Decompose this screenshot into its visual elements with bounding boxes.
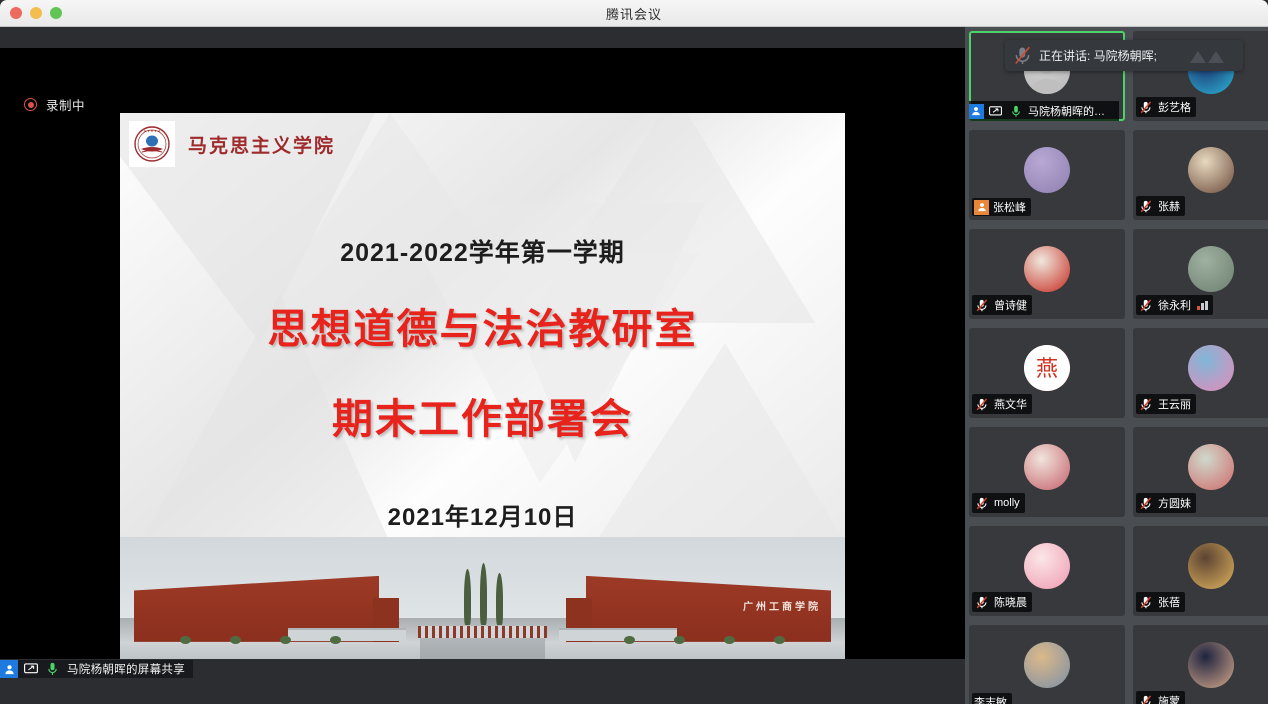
screen-share-label: 马院杨朝晖的屏幕共享: [65, 661, 185, 677]
participant-namebar: molly: [972, 493, 1025, 513]
participant-namebar: 王云丽: [1136, 394, 1196, 414]
mic-muted-icon: [974, 593, 990, 611]
participant-name: 曾诗健: [994, 297, 1027, 313]
participant-namebar: 施蒙: [1136, 691, 1185, 704]
participant-name: 彭艺格: [1158, 99, 1191, 115]
slide-date: 2021年12月10日: [120, 497, 845, 532]
share-surface: ★ ★ ★ ★ ★ 马克思主义学院 2021-2022学年第一学期 思想道德与法…: [0, 48, 965, 659]
mic-muted-icon: [974, 395, 990, 413]
participant-namebar: 李志敏: [972, 693, 1012, 704]
slide-title-line2: 期末工作部署会: [120, 385, 845, 445]
participant-name: 张松峰: [993, 199, 1026, 215]
screen-share-icon: [988, 102, 1004, 120]
window-titlebar: 腾讯会议: [0, 0, 1268, 27]
photo-canopy-left: [288, 628, 406, 641]
pig-cartoon-avatar: [1024, 543, 1070, 589]
screen-share-icon: [23, 660, 39, 678]
participant-tile[interactable]: 方圆妹: [1133, 427, 1268, 517]
mic-muted-icon: [1138, 197, 1154, 215]
participant-tile[interactable]: 张赫: [1133, 130, 1268, 220]
red-flower-avatar: [1024, 246, 1070, 292]
participant-namebar: 方圆妹: [1136, 493, 1196, 513]
purple-flower-avatar: [1024, 147, 1070, 193]
photo-canopy-right: [559, 628, 677, 641]
participant-namebar: 马院杨朝晖的屏...: [969, 101, 1119, 121]
participant-tile[interactable]: molly: [969, 427, 1125, 517]
record-dot-icon: [24, 98, 37, 111]
mic-muted-icon: [1138, 395, 1154, 413]
speaking-toast: 正在讲话: 马院杨朝晖;: [1005, 40, 1243, 71]
mic-muted-icon: [974, 296, 990, 314]
participant-tile[interactable]: 张松峰: [969, 130, 1125, 220]
participant-tile[interactable]: 陈晓晨: [969, 526, 1125, 616]
participant-namebar: 张松峰: [972, 198, 1031, 216]
participant-tile[interactable]: 燕燕文华: [969, 328, 1125, 418]
participant-name: 马院杨朝晖的屏...: [1028, 103, 1114, 119]
participant-name: 徐永利: [1158, 297, 1191, 313]
speaking-toast-text: 正在讲话: 马院杨朝晖;: [1039, 47, 1187, 64]
mic-muted-icon: [1138, 692, 1154, 704]
host-badge-icon: [974, 200, 989, 215]
floral-avatar: [1024, 444, 1070, 490]
person-icon: [0, 660, 18, 678]
participant-name: 李志敏: [974, 694, 1007, 704]
photo-campus-name: 广州工商学院: [743, 598, 821, 613]
university-seal-icon: ★ ★ ★ ★ ★: [129, 121, 175, 167]
girl-portrait-avatar: [1188, 642, 1234, 688]
person-photo-avatar: [1188, 147, 1234, 193]
slide-title-line1: 思想道德与法治教研室: [120, 295, 845, 355]
balloons-avatar: [1188, 444, 1234, 490]
participant-namebar: 徐永利: [1136, 295, 1213, 315]
microphone-icon: [1008, 102, 1024, 120]
portrait-avatar: [1188, 543, 1234, 589]
mic-muted-icon: [1005, 46, 1039, 65]
participant-sidebar[interactable]: 马院杨朝晖的屏...彭艺格张松峰张赫曾诗健徐永利燕燕文华王云丽molly方圆妹陈…: [965, 27, 1268, 704]
mic-muted-icon: [1138, 494, 1154, 512]
participant-name: 王云丽: [1158, 396, 1191, 412]
participant-tile[interactable]: 徐永利: [1133, 229, 1268, 319]
photo-tree: [480, 563, 487, 625]
recording-indicator: 录制中: [24, 95, 85, 114]
screen-share-statusbar: 马院杨朝晖的屏幕共享: [0, 660, 193, 678]
participant-name: 施蒙: [1158, 693, 1180, 704]
participant-namebar: 陈晓晨: [972, 592, 1032, 612]
svg-text:★ ★ ★ ★ ★: ★ ★ ★ ★ ★: [144, 129, 161, 133]
landscape-people-avatar: [1188, 246, 1234, 292]
photo-tree: [464, 569, 471, 625]
svg-text:燕: 燕: [1036, 356, 1058, 381]
participant-namebar: 燕文华: [972, 394, 1032, 414]
slide-header: ★ ★ ★ ★ ★ 马克思主义学院: [129, 121, 335, 167]
meeting-watermark-icon: [1187, 46, 1237, 66]
signal-strength-icon: [1197, 301, 1208, 310]
participant-tile[interactable]: 施蒙: [1133, 625, 1268, 704]
person-icon: [969, 104, 984, 119]
presentation-slide: ★ ★ ★ ★ ★ 马克思主义学院 2021-2022学年第一学期 思想道德与法…: [120, 113, 845, 659]
participant-tile[interactable]: 李志敏: [969, 625, 1125, 704]
participant-name: 燕文华: [994, 396, 1027, 412]
photo-tree: [496, 573, 503, 625]
photo-gate-barrier: [418, 626, 547, 638]
participant-namebar: 彭艺格: [1136, 97, 1196, 117]
participant-grid: 马院杨朝晖的屏...彭艺格张松峰张赫曾诗健徐永利燕燕文华王云丽molly方圆妹陈…: [969, 31, 1268, 704]
participant-namebar: 张蓓: [1136, 592, 1185, 612]
window-title: 腾讯会议: [0, 4, 1268, 23]
mic-muted-icon: [1138, 296, 1154, 314]
participant-name: 张蓓: [1158, 594, 1180, 610]
tencent-meeting-window: 腾讯会议 录制中: [0, 0, 1268, 704]
mic-muted-icon: [1138, 593, 1154, 611]
participant-name: 方圆妹: [1158, 495, 1191, 511]
participant-tile[interactable]: 曾诗健: [969, 229, 1125, 319]
slide-subtitle: 2021-2022学年第一学期: [120, 233, 845, 269]
red-seal-yan-avatar: 燕: [1024, 345, 1070, 391]
participant-name: 张赫: [1158, 198, 1180, 214]
participant-tile[interactable]: 张蓓: [1133, 526, 1268, 616]
microphone-icon: [44, 660, 60, 678]
shared-screen-stage: 录制中: [0, 27, 965, 680]
sunset-sea-avatar: [1024, 642, 1070, 688]
participant-tile[interactable]: 王云丽: [1133, 328, 1268, 418]
participant-name: molly: [994, 497, 1020, 509]
campus-gate-photo: 广州工商学院: [120, 537, 845, 659]
participant-namebar: 张赫: [1136, 196, 1185, 216]
lotus-pond-avatar: [1188, 345, 1234, 391]
mic-muted-icon: [1138, 98, 1154, 116]
mic-muted-icon: [974, 494, 990, 512]
recording-label: 录制中: [46, 95, 85, 114]
participant-namebar: 曾诗健: [972, 295, 1032, 315]
slide-org-name: 马克思主义学院: [188, 131, 335, 158]
participant-name: 陈晓晨: [994, 594, 1027, 610]
